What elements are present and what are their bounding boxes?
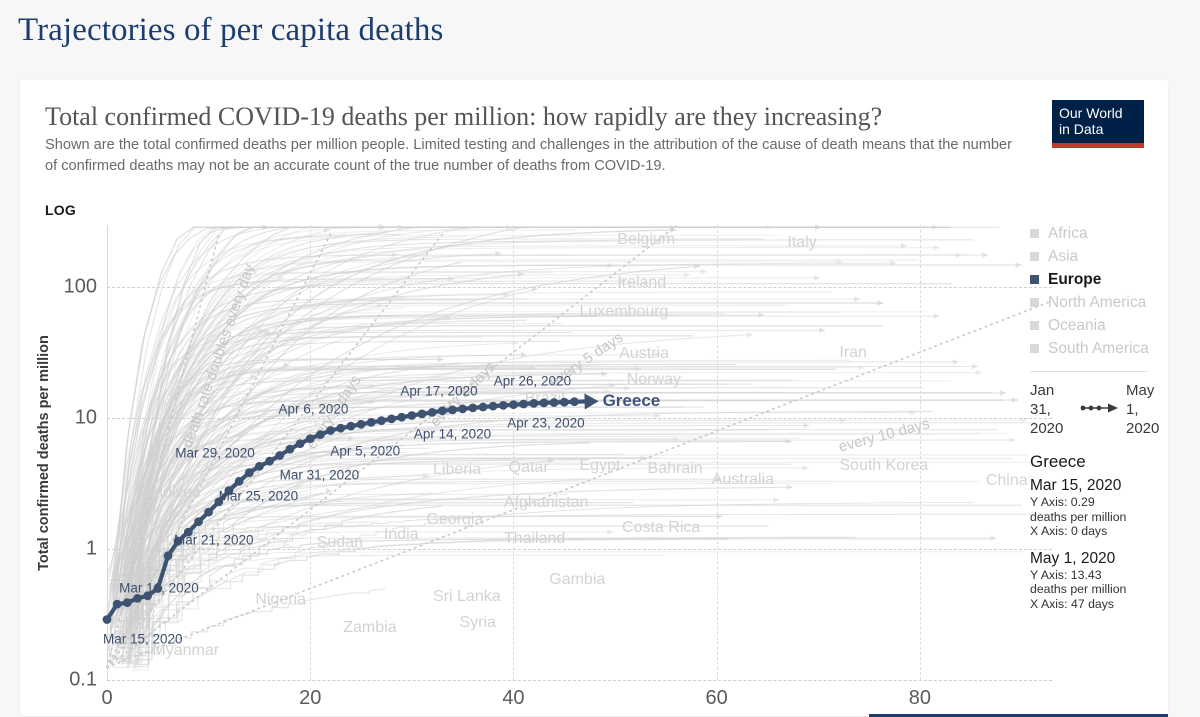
legend-item-asia[interactable]: Asia — [1030, 245, 1170, 268]
focus-start-date: Mar 15, 2020 — [1030, 477, 1170, 495]
y-tick-label: 100 — [64, 276, 97, 299]
legend-item-label: Asia — [1048, 248, 1078, 266]
focus-end-unit: deaths per million — [1030, 582, 1170, 597]
focus-start-block: Mar 15, 2020 Y Axis: 0.29 deaths per mil… — [1030, 477, 1170, 539]
legend-swatch-icon — [1030, 275, 1039, 284]
legend-item-south-america[interactable]: South America — [1030, 337, 1170, 360]
legend-item-oceania[interactable]: Oceania — [1030, 314, 1170, 337]
range-start: Jan 31, 2020 — [1030, 381, 1074, 438]
range-arrow-icon — [1074, 400, 1126, 419]
chart-title: Total confirmed COVID‑19 deaths per mill… — [45, 102, 882, 132]
series-date-label: Mar 15, 2020 — [103, 632, 183, 647]
plot-area[interactable]: Total confirmed deaths per million 0.111… — [107, 225, 1052, 680]
x-tick-label: 80 — [909, 687, 931, 710]
legend-panel: AfricaAsiaEuropeNorth AmericaOceaniaSout… — [1030, 222, 1170, 611]
legend-item-label: Africa — [1048, 225, 1088, 243]
focus-end-date: May 1, 2020 — [1030, 550, 1170, 568]
legend-item-label: Europe — [1048, 271, 1101, 289]
legend-swatch-icon — [1030, 252, 1039, 261]
page-title: Trajectories of per capita deaths — [18, 12, 443, 49]
y-tick-label: 10 — [75, 407, 97, 430]
series-date-label: Mar 21, 2020 — [174, 532, 254, 547]
focus-country-name: Greece — [1030, 452, 1170, 472]
legend-item-label: North America — [1048, 294, 1146, 312]
series-date-label: Apr 14, 2020 — [414, 426, 491, 441]
legend-item-europe[interactable]: Europe — [1030, 268, 1170, 291]
legend-divider — [1030, 371, 1148, 372]
series-date-label: Apr 6, 2020 — [279, 401, 349, 416]
series-date-label: Mar 16, 2020 — [119, 581, 199, 596]
legend-swatch-icon — [1030, 344, 1039, 353]
x-tick-label: 0 — [101, 687, 112, 710]
x-tick-label: 60 — [706, 687, 728, 710]
y-gridline — [107, 680, 1052, 681]
time-range-control[interactable]: Jan 31, 2020 May 1, 2020 — [1030, 381, 1170, 438]
x-tick-label: 40 — [502, 687, 524, 710]
focus-end-y: Y Axis: 13.43 — [1030, 568, 1170, 583]
chart-card: Total confirmed COVID‑19 deaths per mill… — [20, 80, 1168, 716]
series-date-label: Apr 23, 2020 — [507, 416, 584, 431]
scale-toggle-log[interactable]: LOG — [45, 202, 76, 218]
series-date-label: Apr 17, 2020 — [400, 383, 477, 398]
range-end: May 1, 2020 — [1126, 381, 1170, 438]
y-tick-label: 0.1 — [69, 669, 97, 692]
logo-red-rule — [1052, 143, 1144, 148]
legend-item-label: Oceania — [1048, 317, 1106, 335]
series-date-label: Apr 26, 2020 — [494, 374, 571, 389]
legend-swatch-icon — [1030, 229, 1039, 238]
focus-end-block: May 1, 2020 Y Axis: 13.43 deaths per mil… — [1030, 550, 1170, 612]
our-world-in-data-logo[interactable]: Our World in Data — [1052, 100, 1144, 148]
legend-item-north-america[interactable]: North America — [1030, 291, 1170, 314]
logo-line-1: Our World — [1059, 105, 1138, 121]
screenshot-root: Trajectories of per capita deaths Total … — [0, 0, 1200, 716]
series-date-label: Mar 25, 2020 — [219, 489, 299, 504]
focus-end-x: X Axis: 47 days — [1030, 597, 1170, 612]
focus-start-x: X Axis: 0 days — [1030, 524, 1170, 539]
legend-item-africa[interactable]: Africa — [1030, 222, 1170, 245]
focus-start-unit: deaths per million — [1030, 510, 1170, 525]
continent-legend[interactable]: AfricaAsiaEuropeNorth AmericaOceaniaSout… — [1030, 222, 1170, 360]
focus-start-y: Y Axis: 0.29 — [1030, 495, 1170, 510]
series-date-label: Apr 5, 2020 — [330, 443, 400, 458]
greece-series-label[interactable]: Greece — [603, 391, 661, 411]
y-tick-label: 1 — [86, 538, 97, 561]
series-date-label: Mar 29, 2020 — [175, 445, 255, 460]
chart-subtitle: Shown are the total confirmed deaths per… — [45, 135, 1020, 177]
series-date-label: Mar 31, 2020 — [280, 468, 360, 483]
y-axis-title: Total confirmed deaths per million — [36, 335, 52, 571]
x-tick-label: 20 — [299, 687, 321, 710]
legend-swatch-icon — [1030, 321, 1039, 330]
logo-line-2: in Data — [1059, 121, 1138, 137]
legend-item-label: South America — [1048, 340, 1149, 358]
legend-swatch-icon — [1030, 298, 1039, 307]
